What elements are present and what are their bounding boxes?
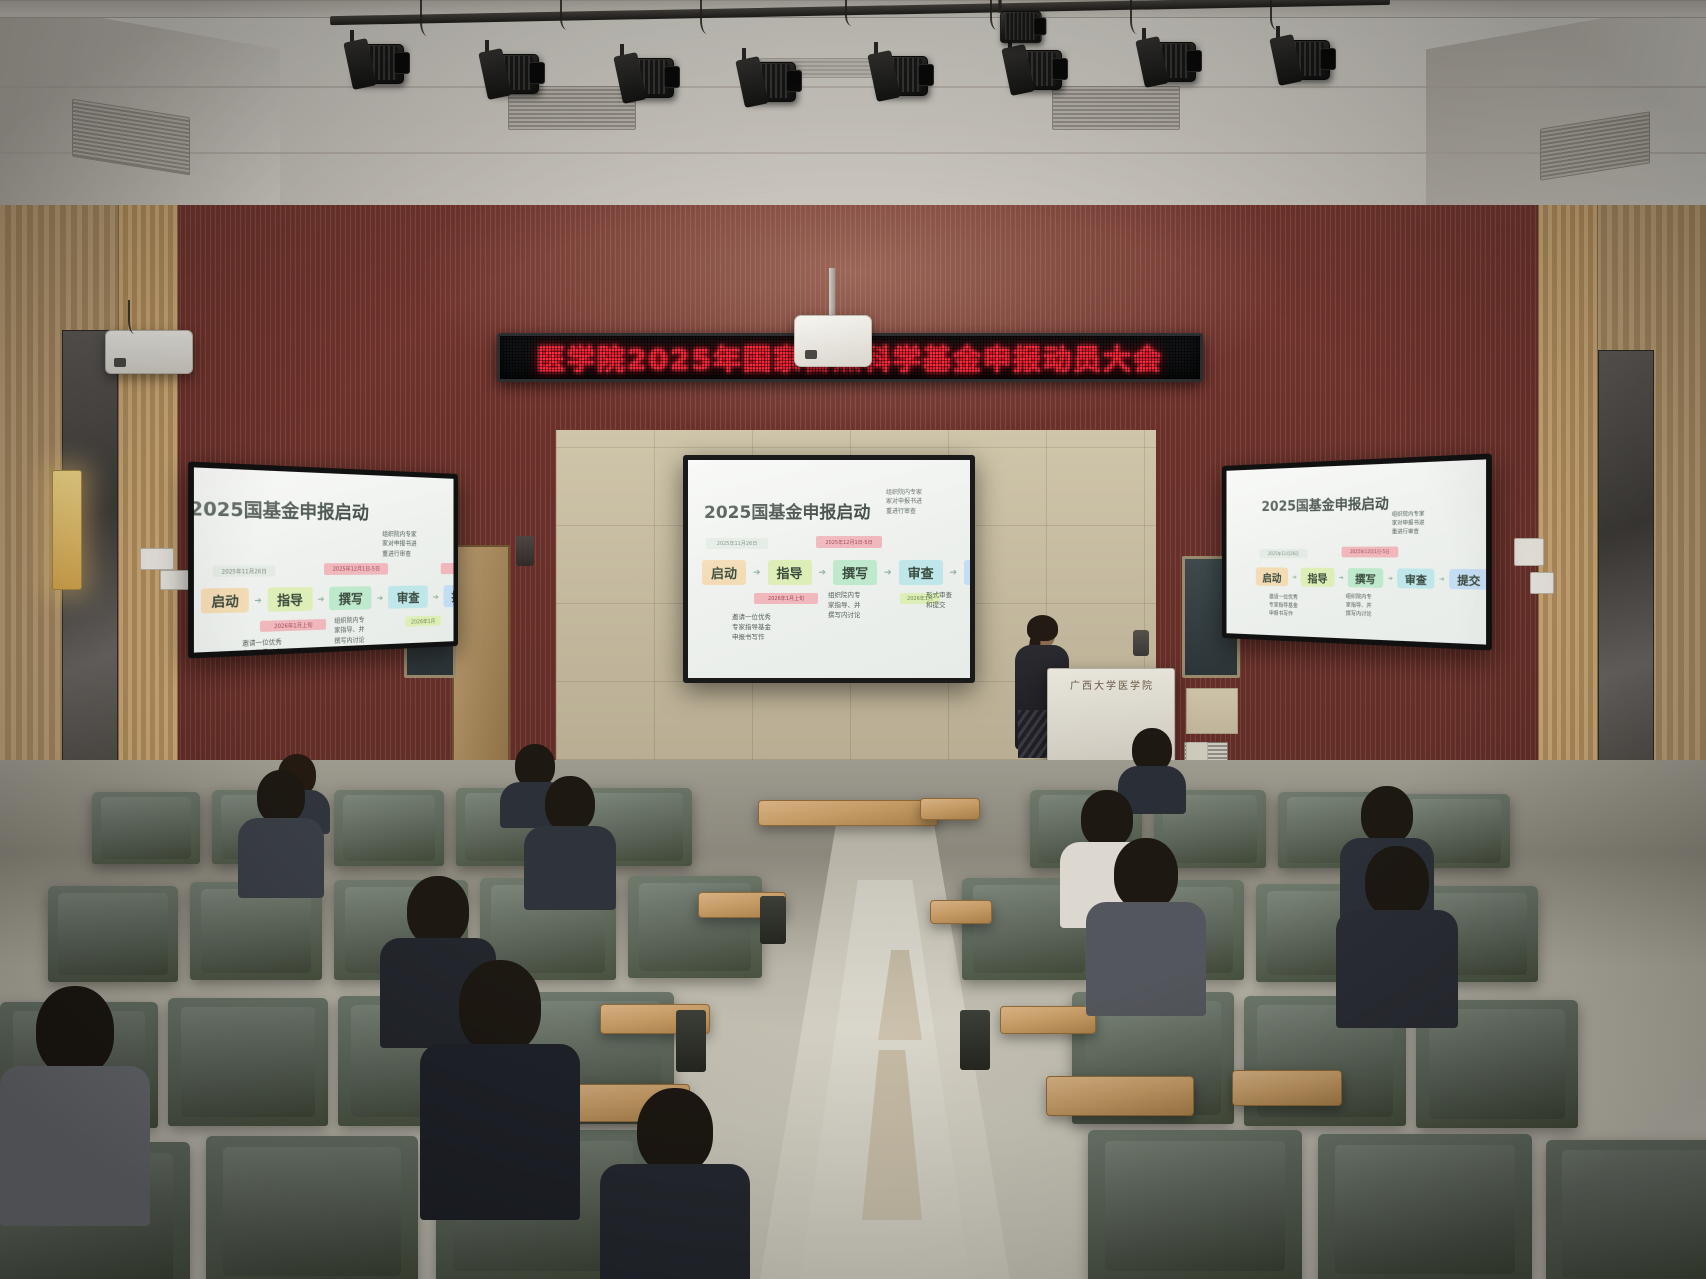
projector-cable: [128, 300, 144, 334]
slide-date-pill: 2025年11月26日: [1260, 549, 1308, 558]
flow-step-3: 审查: [388, 585, 428, 608]
attendee-head: [257, 770, 305, 824]
flow-arrow-icon: ➔: [254, 595, 261, 605]
attendee-head: [459, 960, 541, 1054]
note-line: 组织院内专家: [1392, 511, 1425, 520]
ceiling-seam: [0, 152, 1706, 154]
note-line: 撰写内讨论: [828, 610, 861, 620]
slide-pill-1: 2025年12月1日-5日: [1342, 547, 1399, 558]
note-line: 撰写内讨论: [334, 635, 364, 646]
attendee: [524, 776, 616, 902]
note-line: 重进行审查: [1392, 528, 1425, 537]
note-line: 家指导、并: [334, 625, 364, 636]
flow-step-0: 启动: [1256, 567, 1288, 586]
note-line: 组织院内专: [828, 590, 861, 600]
slide-pill-1: 2025年12月1日-5日: [816, 536, 882, 548]
wall-sconce-left: [52, 470, 82, 590]
slide-flow-row: 启动 ➔ 指导 ➔ 撰写 ➔ 审查 ➔ 提交: [201, 585, 454, 614]
side-projector-lens: [114, 358, 126, 367]
note-line: 组织院内专家: [886, 488, 922, 497]
flow-arrow-icon: ➔: [753, 567, 761, 578]
slide-title: 2025国基金申报启动: [1261, 492, 1388, 515]
slide-note-under-3: 组织院内专 家指导、并 撰写内讨论: [334, 616, 364, 647]
slide-flow-row: 启动 ➔ 指导 ➔ 撰写 ➔ 审查 ➔ 提交: [1256, 567, 1486, 589]
attendee: [600, 1088, 750, 1279]
flow-arrow-icon: ➔: [1292, 573, 1297, 580]
flow-arrow-icon: ➔: [377, 593, 384, 603]
flow-step-4: 提交: [1449, 569, 1486, 590]
note-line: 申报书写作: [732, 632, 771, 642]
projector-lens: [805, 350, 817, 359]
slide-pill-3: 2026年1月上旬: [754, 593, 818, 604]
attendee-body: [0, 1066, 150, 1226]
attendee: [420, 960, 580, 1210]
note-line: 重进行审查: [886, 507, 922, 516]
ceiling-seam: [0, 86, 1706, 88]
attendee-head: [637, 1088, 713, 1174]
seat-armrest: [676, 1010, 706, 1072]
flow-step-3: 审查: [899, 560, 943, 585]
flow-step-2: 撰写: [330, 586, 372, 610]
slide-pill-1: 2025年12月1日-5日: [324, 563, 388, 575]
note-line: 家指导、并: [1346, 602, 1372, 611]
slide-note-right-end: 形式审查 和提交: [926, 590, 952, 610]
side-door-left: [452, 545, 510, 775]
flow-arrow-icon: ➔: [1439, 575, 1445, 583]
flow-step-1: 指导: [1301, 568, 1335, 587]
attendee: [238, 770, 324, 890]
wall-outlet-left[interactable]: [160, 570, 190, 590]
flow-arrow-icon: ➔: [950, 567, 958, 578]
right-screen-slide: 2025国基金申报启动 组织院内专家 家对申报书进 重进行审查 2025年11月…: [1227, 459, 1487, 644]
wood-column-left: [118, 205, 178, 785]
podium-sign-text: 广西大学医学院: [1070, 677, 1154, 692]
attendee-head: [545, 776, 595, 832]
attendee-body: [1086, 902, 1206, 1016]
wall-switch-left[interactable]: [140, 548, 174, 570]
attendee-head: [1114, 838, 1178, 910]
slide-note-top-right: 组织院内专家 家对申报书进 重进行审查: [382, 530, 416, 559]
note-line: 邀请一位优秀: [732, 612, 771, 622]
note-line: 专家指导基金: [732, 622, 771, 632]
lecture-hall-photo: 医学院2025年国家自然科学基金申报动员大会 2025国基金申报启动 组织院内专…: [0, 0, 1706, 1279]
marble-pillar-right: [1598, 350, 1654, 800]
slide-note-under-1: 邀请一位优秀 专家指导基金 申报书写作: [732, 612, 771, 642]
light-cable: [845, 0, 863, 26]
attendee-head: [1361, 786, 1413, 844]
note-line: 组织院内专: [1346, 594, 1372, 603]
seat: [168, 998, 328, 1126]
side-projector: [105, 330, 193, 374]
flow-arrow-icon: ➔: [819, 567, 827, 578]
seat: [1546, 1140, 1706, 1279]
flow-step-4: 提交: [443, 585, 453, 608]
seat: [1088, 1130, 1302, 1279]
attendee-body: [600, 1164, 750, 1279]
note-line: 组织院内专家: [382, 530, 416, 540]
seat: [334, 790, 444, 866]
note-line: 专家指导基金: [242, 648, 282, 653]
slide-title: 2025国基金申报启动: [704, 498, 870, 523]
attendee-head: [36, 986, 114, 1076]
note-line: 家指导、并: [828, 600, 861, 610]
slide-pill-3: 2026年1月上旬: [260, 619, 326, 632]
seat: [1318, 1134, 1532, 1279]
writing-desk: [1000, 1006, 1096, 1034]
seat: [206, 1136, 418, 1279]
attendee: [1336, 846, 1458, 1016]
seat: [48, 886, 178, 982]
seat: [92, 792, 200, 864]
wall-speaker-left: [516, 536, 534, 566]
projector-mount-rod: [829, 268, 835, 320]
note-line: 撰写内讨论: [1346, 610, 1372, 619]
flow-step-0: 启动: [201, 588, 249, 614]
wall-switch-right[interactable]: [1514, 538, 1544, 566]
attendee-body: [420, 1044, 580, 1220]
flow-arrow-icon: ➔: [317, 594, 324, 604]
flow-step-3: 审查: [1397, 568, 1434, 588]
flow-step-2: 撰写: [1348, 568, 1383, 588]
flow-step-1: 指导: [768, 560, 812, 585]
left-wall-screen: 2025国基金申报启动 组织院内专家 家对申报书进 重进行审查 2025年11月…: [188, 461, 458, 658]
slide-note-under-1: 邀请一位优秀 专家指导基金 申报书写作: [242, 638, 282, 653]
slide-pill-4: 2026年1月: [405, 616, 440, 627]
light-cable: [420, 0, 438, 36]
writing-desk: [1046, 1076, 1194, 1116]
attendee-body: [524, 826, 616, 910]
note-line: 和提交: [926, 600, 952, 610]
wall-panel-right: [1186, 688, 1238, 734]
slide-date-pill: 2025年11月26日: [706, 538, 768, 549]
attendee-head: [1365, 846, 1429, 918]
note-line: 家对申报书进: [886, 497, 922, 506]
front-desk: [920, 798, 980, 820]
attendee-body: [238, 818, 324, 898]
light-cable: [560, 0, 578, 30]
slide-flow-row: 启动 ➔ 指导 ➔ 撰写 ➔ 审查 ➔ 提交: [702, 560, 970, 585]
light-cable: [700, 0, 718, 34]
seat-armrest: [960, 1010, 990, 1070]
podium-sign: 广西大学医学院: [1054, 676, 1170, 693]
writing-desk: [930, 900, 992, 924]
attendee-head: [407, 876, 469, 946]
attendee: [0, 986, 150, 1216]
left-screen-slide: 2025国基金申报启动 组织院内专家 家对申报书进 重进行审查 2025年11月…: [194, 467, 454, 652]
attendee-body: [1336, 910, 1458, 1028]
note-line: 重进行审查: [382, 549, 416, 559]
seat-armrest: [760, 896, 786, 944]
flow-arrow-icon: ➔: [884, 567, 892, 578]
flow-step-1: 指导: [267, 587, 312, 612]
slide-pill-0: 2025年11月26日: [213, 565, 276, 576]
slide-pill-2: [441, 563, 454, 574]
front-desk: [758, 800, 938, 826]
note-line: 家对申报书进: [1392, 520, 1425, 529]
slide-note-under-3: 组织院内专 家指导、并 撰写内讨论: [828, 590, 861, 620]
slide-note-under-3: 组织院内专 家指导、并 撰写内讨论: [1346, 594, 1372, 620]
note-line: 形式审查: [926, 590, 952, 600]
flow-arrow-icon: ➔: [1339, 574, 1344, 582]
ceiling-projector: [794, 315, 872, 367]
right-wall-screen: 2025国基金申报启动 组织院内专家 家对申报书进 重进行审查 2025年11月…: [1222, 453, 1492, 650]
slide-note-top-right: 组织院内专家 家对申报书进 重进行审查: [1392, 511, 1425, 537]
wood-column-right: [1538, 205, 1598, 795]
note-line: 申报书写作: [1269, 610, 1298, 619]
note-line: 家对申报书进: [382, 539, 416, 549]
ceiling-vent: [1052, 86, 1180, 130]
flow-step-4: 提交: [964, 560, 970, 585]
wall-speaker-right: [1133, 630, 1149, 656]
center-screen-slide: 2025国基金申报启动 组织院内专家 家对申报书进 重进行审查 2025年11月…: [688, 460, 970, 678]
slide-title: 2025国基金申报启动: [194, 492, 369, 524]
center-projection-screen: 2025国基金申报启动 组织院内专家 家对申报书进 重进行审查 2025年11月…: [683, 455, 975, 683]
slide-note-top-right: 组织院内专家 家对申报书进 重进行审查: [886, 488, 922, 516]
flow-arrow-icon: ➔: [1388, 574, 1393, 582]
flow-arrow-icon: ➔: [433, 592, 439, 601]
wall-outlet-right[interactable]: [1530, 572, 1554, 594]
writing-desk: [1232, 1070, 1342, 1106]
attendee: [1086, 838, 1206, 1004]
slide-note-under-1: 邀请一位优秀 专家指导基金 申报书写作: [1269, 594, 1298, 619]
flow-step-2: 撰写: [833, 560, 877, 585]
note-line: 专家指导基金: [1269, 602, 1298, 611]
flow-step-0: 启动: [702, 560, 746, 585]
